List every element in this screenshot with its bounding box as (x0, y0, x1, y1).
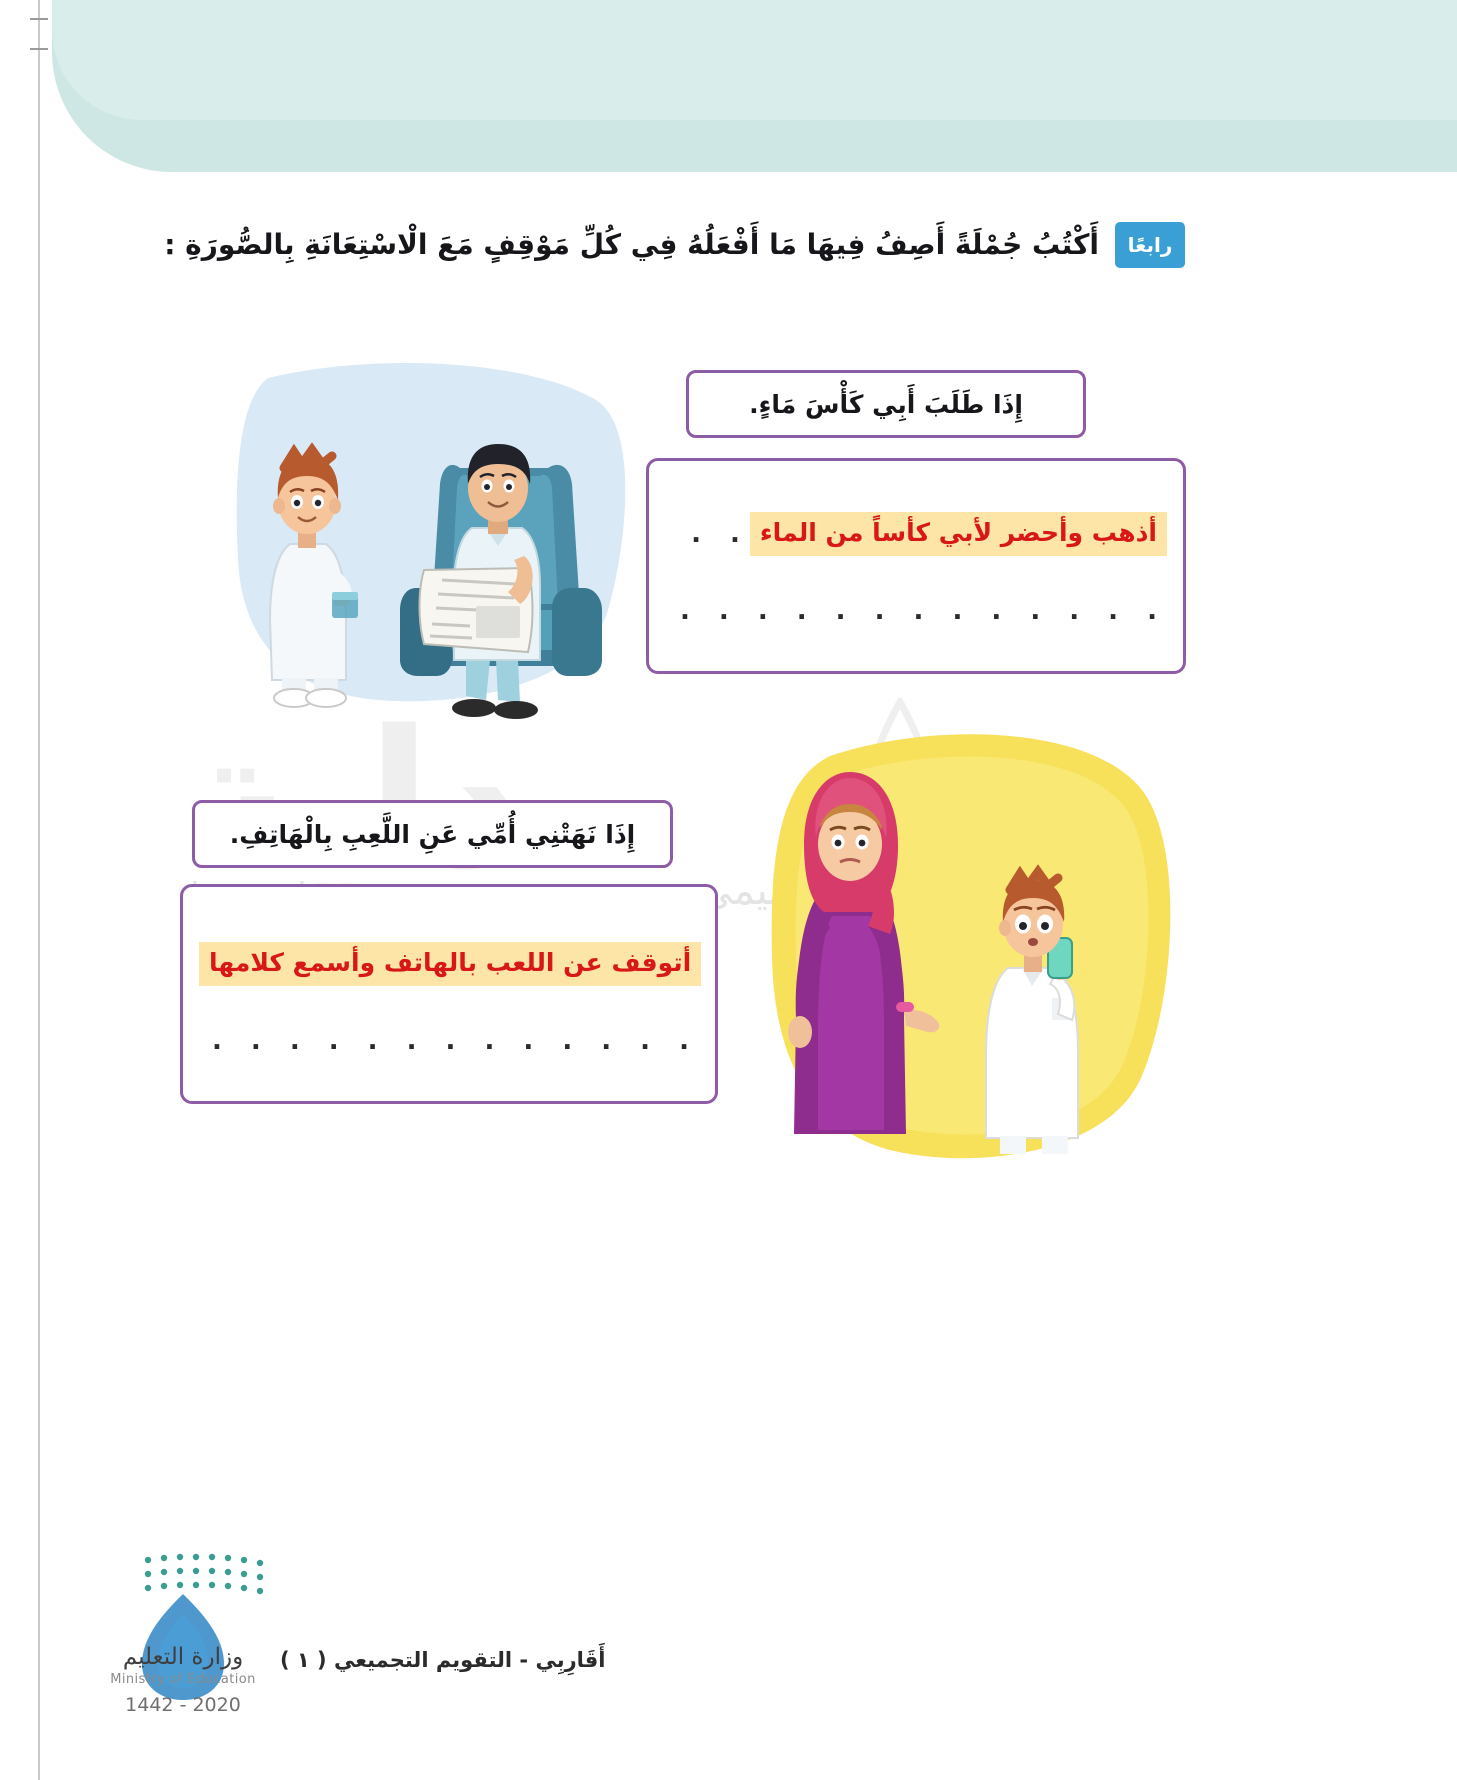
footer-year: 1442 - 2020 (78, 1694, 288, 1716)
ministry-name-ar: وزارة التعليم (78, 1644, 288, 1670)
answer-line-2b[interactable]: . . . . . . . . . . . . . . . . . . . . … (199, 1021, 699, 1061)
ministry-name-en: Ministry of Education (78, 1672, 288, 1687)
illustration-boy-and-father (228, 360, 648, 740)
footer-caption: أَقَارِبِي - التقويم التجميعي ( ١ ) (280, 1648, 606, 1672)
binding-line (38, 0, 40, 1780)
answer-text-2: أتوقف عن اللعب بالهاتف وأسمع كلامها (199, 942, 701, 986)
answer-line-2a[interactable]: . . أتوقف عن اللعب بالهاتف وأسمع كلامها (199, 939, 699, 989)
prompt-box-1: إِذَا طَلَبَ أَبِي كَأْسَ مَاءٍ. (686, 370, 1086, 438)
answer-text-1: أذهب وأحضر لأبي كأساً من الماء (750, 512, 1167, 556)
answer-box-2[interactable]: . . أتوقف عن اللعب بالهاتف وأسمع كلامها … (180, 884, 718, 1104)
illustration-mother-and-boy (760, 720, 1180, 1180)
prompt-text-2: إِذَا نَهَتْنِي أُمِّي عَنِ اللَّعِبِ بِ… (230, 820, 635, 849)
instruction-row: رابعًا أَكْتُبُ جُمْلَةً أَصِفُ فِيهَا م… (110, 214, 1185, 276)
order-badge: رابعًا (1115, 222, 1185, 268)
ministry-logo: وزارة التعليم Ministry of Education 1442… (78, 1552, 288, 1722)
answer-line-1a[interactable]: . . . أذهب وأحضر لأبي كأساً من الماء (667, 509, 1167, 559)
worksheet-page: بداية beadaya.com موقع بداية التعليمي را… (0, 0, 1457, 1780)
prompt-text-1: إِذَا طَلَبَ أَبِي كَأْسَ مَاءٍ. (749, 390, 1023, 419)
binding-tick-top (30, 18, 48, 20)
answer-box-1[interactable]: . . . أذهب وأحضر لأبي كأساً من الماء . .… (646, 458, 1186, 674)
prompt-box-2: إِذَا نَهَتْنِي أُمِّي عَنِ اللَّعِبِ بِ… (192, 800, 673, 868)
answer-dots-1b: . . . . . . . . . . . . . . . . . . . . … (665, 596, 1167, 626)
answer-line-1b[interactable]: . . . . . . . . . . . . . . . . . . . . … (665, 591, 1167, 631)
instruction-text: أَكْتُبُ جُمْلَةً أَصِفُ فِيهَا مَا أَفْ… (164, 224, 1099, 266)
binding-tick-second (30, 48, 48, 50)
answer-dots-2b: . . . . . . . . . . . . . . . . . . . . … (199, 1026, 699, 1056)
header-band-inner (52, 0, 1457, 120)
answer-dots-1a: . . . (667, 519, 750, 549)
